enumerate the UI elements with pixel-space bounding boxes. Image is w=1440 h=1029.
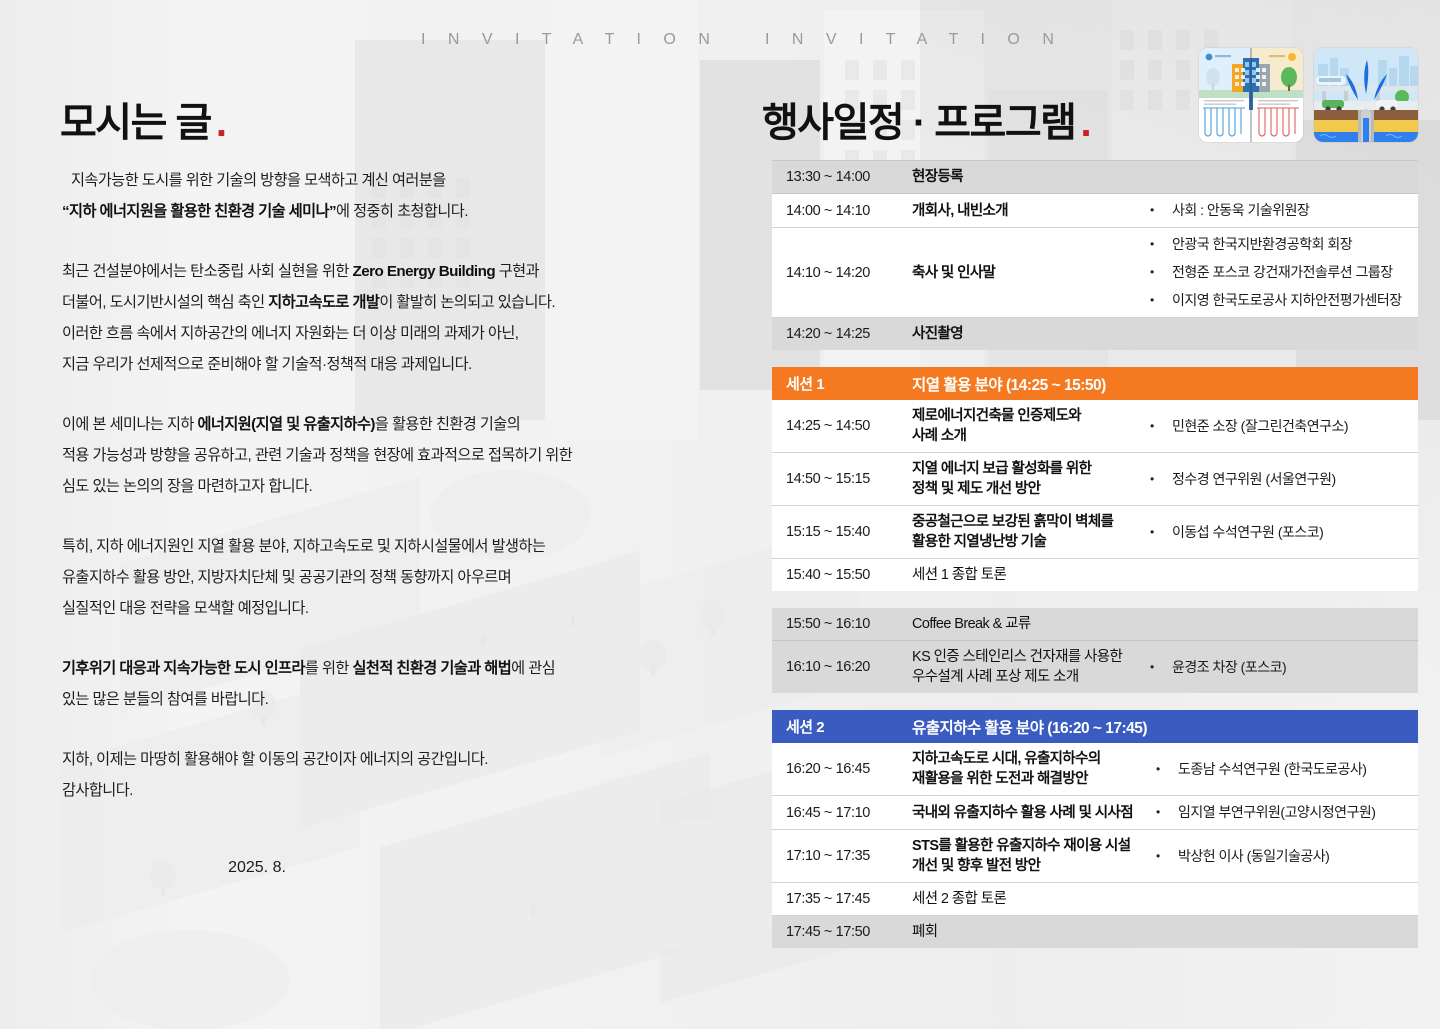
row-title: 지열 에너지 보급 활성화를 위한 정책 및 제도 개선 방안 [912,453,1150,505]
table-row: 16:10 ~ 16:20 KS 인증 스테인리스 건자재를 사용한 우수설계 … [772,641,1418,693]
row-time: 16:10 ~ 16:20 [772,641,912,693]
letter-paragraph-6-line-2: 감사합니다. [62,775,682,806]
row-time: 16:45 ~ 17:10 [772,796,912,829]
schedule-spacer [772,693,1418,710]
row-speakers [1150,916,1418,948]
row-time: 14:00 ~ 14:10 [772,194,912,227]
bullet-icon: • [1156,760,1178,779]
row-time: 17:35 ~ 17:45 [772,883,912,915]
schedule-spacer [772,350,1418,367]
table-row: 14:10 ~ 14:20 축사 및 인사말 • 안광국 한국지반환경공학회 회… [772,228,1418,318]
session-1-label: 세션 1 [772,373,912,394]
speaker-name: 임지열 부연구위원(고양시정연구원) [1178,803,1410,822]
bullet-icon: • [1150,417,1172,436]
session-2-header: 세션 2 유출지하수 활용 분야 (16:20 ~ 17:45) [772,710,1418,743]
table-row: 14:20 ~ 14:25 사진촬영 [772,318,1418,350]
speaker-item: • 정수경 연구위원 (서울연구원) [1150,470,1410,489]
bullet-icon: • [1150,470,1172,489]
p5-practical-tech: 실천적 친환경 기술과 해법 [352,660,511,677]
schedule-spacer [772,591,1418,608]
speaker-item: • 도종남 수석연구원 (한국도로공사) [1156,760,1410,779]
speaker-item: • 사회 : 안동욱 기술위원장 [1150,201,1410,220]
row-speakers: • 도종남 수석연구원 (한국도로공사) [1156,743,1418,795]
speaker-item: • 임지열 부연구위원(고양시정연구원) [1156,803,1410,822]
letter-paragraph-3-line-1: 이에 본 세미나는 지하 에너지원(지열 및 유출지하수)을 활용한 친환경 기… [62,409,682,440]
table-row: 15:40 ~ 15:50 세션 1 종합 토론 [772,559,1418,591]
table-row: 17:35 ~ 17:45 세션 2 종합 토론 [772,883,1418,916]
letter-paragraph-4-line-3: 실질적인 대응 전략을 모색할 예정입니다. [62,593,682,624]
letter-date: 2025. 8. [62,852,682,883]
row-time: 16:20 ~ 16:45 [772,743,912,795]
p3-text-a: 이에 본 세미나는 지하 [62,416,197,433]
speaker-name: 민현준 소장 (잘그린건축연구소) [1172,417,1410,436]
letter-paragraph-2-line-1: 최근 건설분야에서는 탄소중립 사회 실현을 위한 Zero Energy Bu… [62,256,682,287]
p3-text-c: 을 활용한 친환경 기술의 [375,416,520,433]
row-time: 14:25 ~ 14:50 [772,400,912,452]
letter-line-1: 지속가능한 도시를 위한 기술의 방향을 모색하고 계신 여러분을 [62,165,682,196]
seminar-title-quoted: “지하 에너지원을 활용한 친환경 기술 세미나” [62,203,336,220]
heading-left-text: 모시는 글 [60,101,211,145]
bullet-icon: • [1150,263,1172,282]
break-block: 15:50 ~ 16:10 Coffee Break & 교류 16:10 ~ … [772,608,1418,693]
p2-zero-energy-building: Zero Energy Building [352,263,495,280]
kicker-invitation-right: I N V I T A T I O N [765,31,1063,49]
table-row: 16:20 ~ 16:45 지하고속도로 시대, 유출지하수의 재활용을 위한 … [772,743,1418,796]
row-speakers: • 사회 : 안동욱 기술위원장 [1150,194,1418,227]
speaker-name: 이지영 한국도로공사 지하안전평가센터장 [1172,291,1410,310]
speaker-name: 사회 : 안동욱 기술위원장 [1172,201,1410,220]
row-time: 15:15 ~ 15:40 [772,506,912,558]
speaker-name: 이동섭 수석연구원 (포스코) [1172,523,1410,542]
session-1-header: 세션 1 지열 활용 분야 (14:25 ~ 15:50) [772,367,1418,400]
page-title-left: 모시는 글. [60,90,225,148]
p3-energy-source: 에너지원(지열 및 유출지하수) [197,416,374,433]
row-speakers [1150,883,1418,915]
p5-climate-infra: 기후위기 대응과 지속가능한 도시 인프라 [62,660,305,677]
p5-text-d: 에 관심 [511,660,555,677]
session-1-title: 지열 활용 분야 (14:25 ~ 15:50) [912,373,1418,395]
row-speakers [1150,318,1418,350]
row-speakers: • 박상헌 이사 (동일기술공사) [1156,830,1418,882]
row-title: Coffee Break & 교류 [912,608,1150,640]
speaker-name: 박상헌 이사 (동일기술공사) [1178,847,1410,866]
row-time: 14:20 ~ 14:25 [772,318,912,350]
row-time: 17:45 ~ 17:50 [772,916,912,948]
table-row: 15:15 ~ 15:40 중공철근으로 보강된 흙막이 벽체를 활용한 지열냉… [772,506,1418,559]
row-time: 17:10 ~ 17:35 [772,830,912,882]
row-speakers [1150,161,1418,193]
p2-text-d: 더불어, 도시기반시설의 핵심 축인 [62,294,268,311]
bullet-icon: • [1156,847,1178,866]
row-title: 세션 1 종합 토론 [912,559,1150,591]
row-title: KS 인증 스테인리스 건자재를 사용한 우수설계 사례 포상 제도 소개 [912,641,1150,693]
table-row: 17:10 ~ 17:35 STS를 활용한 유출지하수 재이용 시설 개선 및… [772,830,1418,883]
bullet-icon: • [1150,201,1172,220]
speaker-item: • 윤경조 차장 (포스코) [1150,658,1410,677]
speaker-name: 윤경조 차장 (포스코) [1172,658,1410,677]
table-row: 13:30 ~ 14:00 현장등록 [772,161,1418,194]
letter-paragraph-4-line-2: 유출지하수 활용 방안, 지방자치단체 및 공공기관의 정책 동향까지 아우르며 [62,562,682,593]
row-time: 13:30 ~ 14:00 [772,161,912,193]
session-2-label: 세션 2 [772,716,912,737]
row-speakers [1150,559,1418,591]
heading-dot-right: . [1080,101,1090,145]
row-time: 15:40 ~ 15:50 [772,559,912,591]
schedule-table: 13:30 ~ 14:00 현장등록 14:00 ~ 14:10 개회사, 내빈… [772,160,1418,948]
row-title: 세션 2 종합 토론 [912,883,1150,915]
letter-paragraph-5-line-2: 있는 많은 분들의 참여를 바랍니다. [62,684,682,715]
schedule-preamble-block: 13:30 ~ 14:00 현장등록 14:00 ~ 14:10 개회사, 내빈… [772,160,1418,350]
table-row: 14:25 ~ 14:50 제로에너지건축물 인증제도와 사례 소개 • 민현준… [772,400,1418,453]
bullet-icon: • [1150,291,1172,310]
row-speakers: • 안광국 한국지반환경공학회 회장 • 전형준 포스코 강건재가전솔루션 그룹… [1150,228,1418,317]
bullet-icon: • [1150,235,1172,254]
letter-paragraph-5-line-1: 기후위기 대응과 지속가능한 도시 인프라를 위한 실천적 친환경 기술과 해법… [62,653,682,684]
row-speakers: • 윤경조 차장 (포스코) [1150,641,1418,693]
speaker-item: • 안광국 한국지반환경공학회 회장 [1150,235,1410,254]
row-speakers: • 민현준 소장 (잘그린건축연구소) [1150,400,1418,452]
p2-text-a: 최근 건설분야에서는 탄소중립 사회 실현을 위한 [62,263,352,280]
heading-dot-left: . [216,101,226,145]
session-2-title: 유출지하수 활용 분야 (16:20 ~ 17:45) [912,716,1418,738]
speaker-item: • 박상헌 이사 (동일기술공사) [1156,847,1410,866]
row-title: 현장등록 [912,161,1150,193]
row-title: 중공철근으로 보강된 흙막이 벽체를 활용한 지열냉난방 기술 [912,506,1150,558]
invitation-page: I N V I T A T I O N I N V I T A T I O N … [0,0,1440,1029]
row-title: 지하고속도로 시대, 유출지하수의 재활용을 위한 도전과 해결방안 [912,743,1156,795]
row-title: 폐회 [912,916,1150,948]
speaker-name: 안광국 한국지반환경공학회 회장 [1172,235,1410,254]
row-title: 개회사, 내빈소개 [912,194,1150,227]
row-speakers: • 이동섭 수석연구원 (포스코) [1150,506,1418,558]
speaker-item: • 민현준 소장 (잘그린건축연구소) [1150,417,1410,436]
letter-paragraph-2-line-4: 지금 우리가 선제적으로 준비해야 할 기술적·정책적 대응 과제입니다. [62,349,682,380]
geothermal-heating-cooling-diagram [1199,48,1303,142]
letter-paragraph-2-line-2: 더불어, 도시기반시설의 핵심 축인 지하고속도로 개발이 활발히 논의되고 있… [62,287,682,318]
thumbnail-group [1199,48,1418,142]
row-title: 축사 및 인사말 [912,228,1150,317]
kicker-invitation-left: I N V I T A T I O N [421,31,719,49]
speaker-item: • 전형준 포스코 강건재가전솔루션 그룹장 [1150,263,1410,282]
table-row: 14:50 ~ 15:15 지열 에너지 보급 활성화를 위한 정책 및 제도 … [772,453,1418,506]
row-title: 국내외 유출지하수 활용 사례 및 시사점 [912,796,1156,829]
row-title: 사진촬영 [912,318,1150,350]
session-2-block: 세션 2 유출지하수 활용 분야 (16:20 ~ 17:45) 16:20 ~… [772,710,1418,948]
bullet-icon: • [1156,803,1178,822]
speaker-item: • 이동섭 수석연구원 (포스코) [1150,523,1410,542]
bullet-icon: • [1150,523,1172,542]
letter-line-2: “지하 에너지원을 활용한 친환경 기술 세미나”에 정중히 초청합니다. [62,196,682,227]
row-time: 14:50 ~ 15:15 [772,453,912,505]
invitation-letter-body: 지속가능한 도시를 위한 기술의 방향을 모색하고 계신 여러분을 “지하 에너… [62,165,682,883]
p2-text-f: 이 활발히 논의되고 있습니다. [379,294,555,311]
letter-paragraph-2-line-3: 이러한 흐름 속에서 지하공간의 에너지 자원화는 더 이상 미래의 과제가 아… [62,318,682,349]
speaker-name: 정수경 연구위원 (서울연구원) [1172,470,1410,489]
table-row: 14:00 ~ 14:10 개회사, 내빈소개 • 사회 : 안동욱 기술위원장 [772,194,1418,228]
row-title: STS를 활용한 유출지하수 재이용 시설 개선 및 향후 발전 방안 [912,830,1156,882]
letter-paragraph-3-line-2: 적용 가능성과 방향을 공유하고, 관련 기술과 정책을 현장에 효과적으로 접… [62,440,682,471]
row-time: 14:10 ~ 14:20 [772,228,912,317]
letter-paragraph-3-line-3: 심도 있는 논의의 장을 마련하고자 합니다. [62,471,682,502]
session-1-block: 세션 1 지열 활용 분야 (14:25 ~ 15:50) 14:25 ~ 14… [772,367,1418,591]
heading-right-text: 행사일정 · 프로그램 [762,101,1075,145]
row-title: 제로에너지건축물 인증제도와 사례 소개 [912,400,1150,452]
letter-paragraph-6-line-1: 지하, 이제는 마땅히 활용해야 할 이동의 공간이자 에너지의 공간입니다. [62,744,682,775]
speaker-name: 도종남 수석연구원 (한국도로공사) [1178,760,1410,779]
letter-paragraph-4-line-1: 특히, 지하 에너지원인 지열 활용 분야, 지하고속도로 및 지하시설물에서 … [62,531,682,562]
row-speakers: • 임지열 부연구위원(고양시정연구원) [1156,796,1418,829]
row-speakers [1150,608,1418,640]
groundwater-discharge-tunnel-diagram [1314,48,1418,142]
table-row: 16:45 ~ 17:10 국내외 유출지하수 활용 사례 및 시사점 • 임지… [772,796,1418,830]
speaker-name: 전형준 포스코 강건재가전솔루션 그룹장 [1172,263,1410,282]
row-time: 15:50 ~ 16:10 [772,608,912,640]
bullet-icon: • [1150,658,1172,677]
letter-line-2-rest: 에 정중히 초청합니다. [336,203,468,220]
page-title-right: 행사일정 · 프로그램. [762,90,1090,148]
speaker-item: • 이지영 한국도로공사 지하안전평가센터장 [1150,291,1410,310]
row-speakers: • 정수경 연구위원 (서울연구원) [1150,453,1418,505]
p2-underground-highway: 지하고속도로 개발 [268,294,379,311]
table-row: 17:45 ~ 17:50 폐회 [772,916,1418,948]
p2-text-c: 구현과 [495,263,539,280]
table-row: 15:50 ~ 16:10 Coffee Break & 교류 [772,608,1418,641]
p5-text-b: 를 위한 [305,660,353,677]
